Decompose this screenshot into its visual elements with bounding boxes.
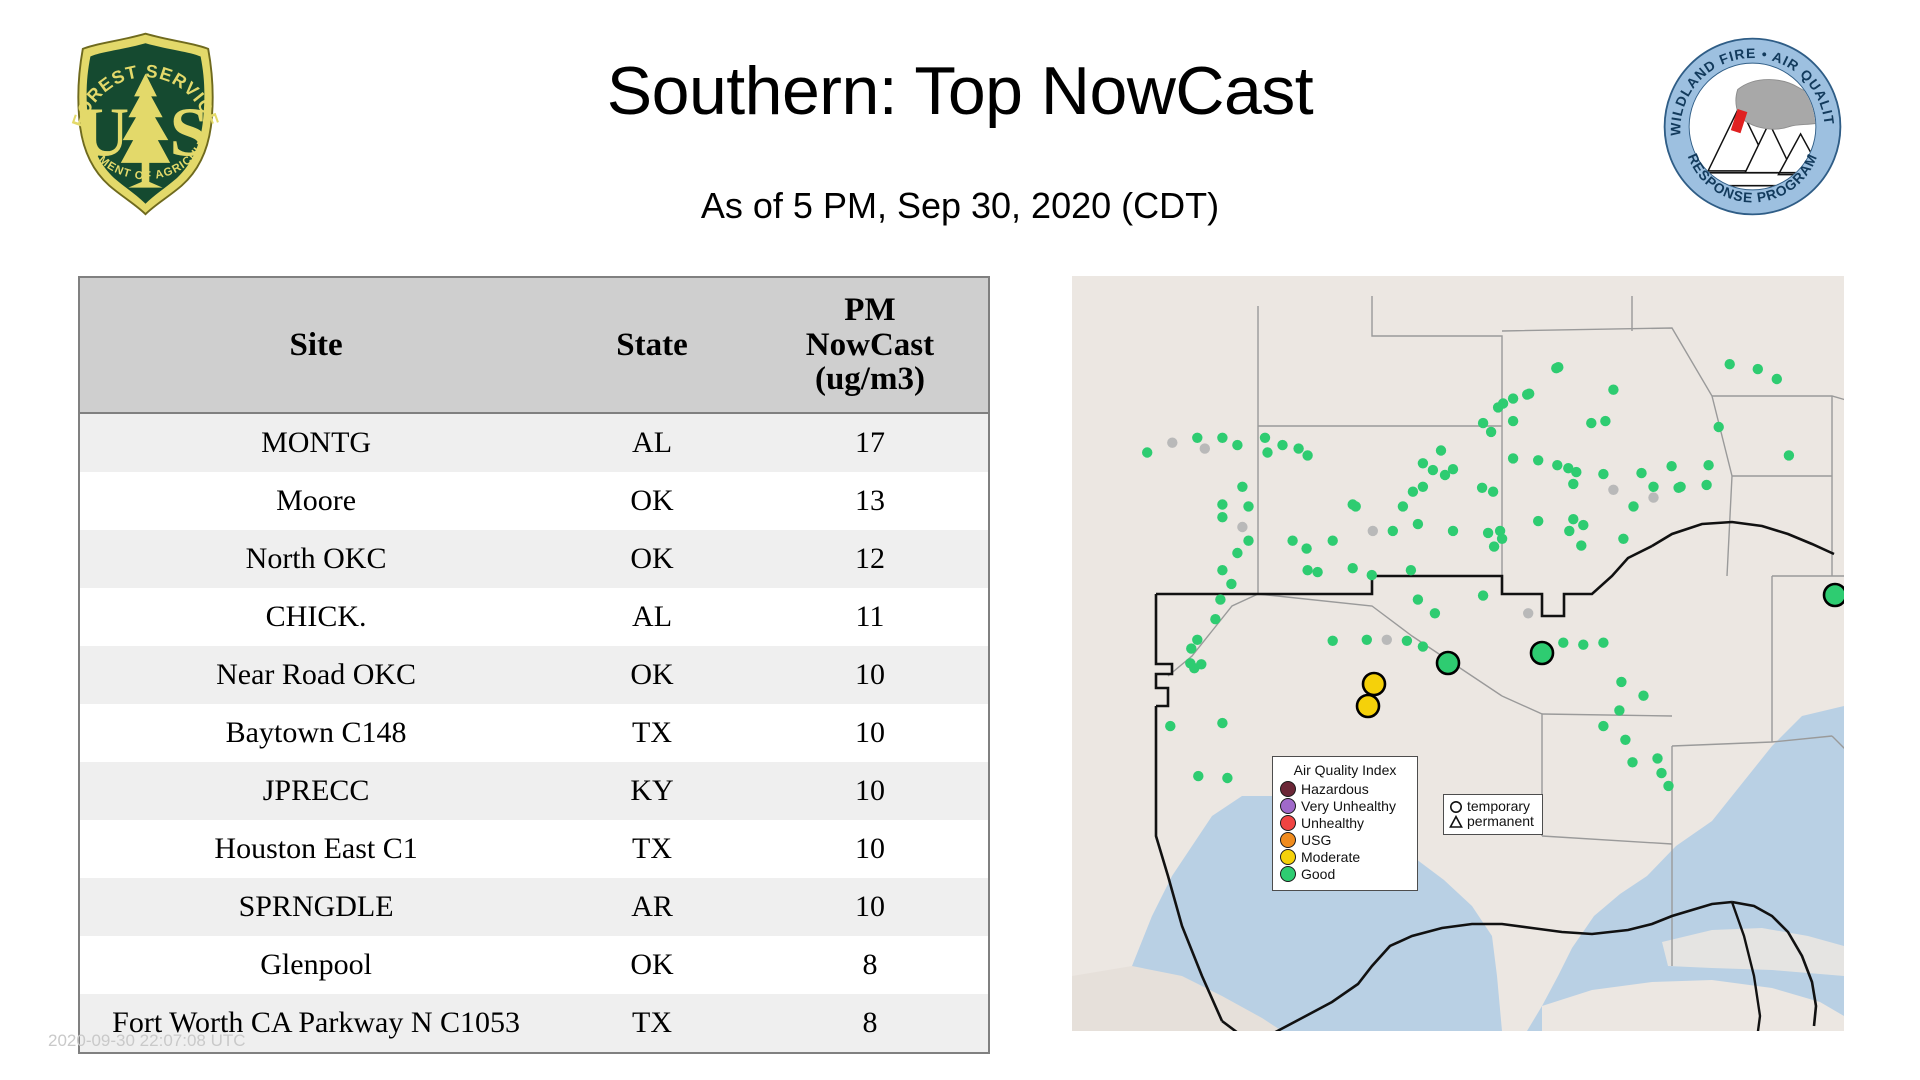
map-monitor-dot[interactable] bbox=[1226, 579, 1236, 589]
map-monitor-dot[interactable] bbox=[1277, 440, 1287, 450]
map-monitor-dot[interactable] bbox=[1648, 492, 1658, 502]
map-monitor-dot[interactable] bbox=[1348, 563, 1358, 573]
map-monitor-dot[interactable] bbox=[1524, 389, 1534, 399]
table-row: SPRNGDLEAR10 bbox=[80, 878, 988, 936]
aqi-legend-item: Good bbox=[1280, 866, 1410, 882]
map-highlighted-monitor[interactable] bbox=[1357, 695, 1379, 717]
column-header-state: State bbox=[552, 278, 752, 413]
aqi-legend-item: Moderate bbox=[1280, 849, 1410, 865]
map-monitor-dot[interactable] bbox=[1232, 548, 1242, 558]
cell-site: SPRNGDLE bbox=[80, 878, 552, 936]
cell-state: TX bbox=[552, 820, 752, 878]
sensor-legend-label-permanent: permanent bbox=[1467, 814, 1534, 829]
cell-pm-nowcast: 11 bbox=[752, 588, 988, 646]
cell-state: OK bbox=[552, 472, 752, 530]
map-monitor-dot[interactable] bbox=[1413, 594, 1423, 604]
map-monitor-dot[interactable] bbox=[1448, 526, 1458, 536]
map-monitor-dot[interactable] bbox=[1210, 614, 1220, 624]
map-monitor-dot[interactable] bbox=[1413, 519, 1423, 529]
map-monitor-dot[interactable] bbox=[1312, 567, 1322, 577]
map-monitor-dot[interactable] bbox=[1351, 501, 1361, 511]
map-monitor-dot[interactable] bbox=[1652, 753, 1662, 763]
aqi-legend-label: USG bbox=[1301, 833, 1331, 848]
map-monitor-dot[interactable] bbox=[1200, 443, 1210, 453]
map-monitor-dot[interactable] bbox=[1486, 427, 1496, 437]
map-monitor-dot[interactable] bbox=[1237, 522, 1247, 532]
map-monitor-dot[interactable] bbox=[1293, 443, 1303, 453]
sensor-legend-label-temporary: temporary bbox=[1467, 799, 1530, 814]
cell-pm-nowcast: 10 bbox=[752, 762, 988, 820]
map-monitor-dot[interactable] bbox=[1367, 570, 1377, 580]
cell-state: AR bbox=[552, 878, 752, 936]
cell-state: TX bbox=[552, 704, 752, 762]
map-monitor-dot[interactable] bbox=[1483, 528, 1493, 538]
map-monitor-dot[interactable] bbox=[1578, 520, 1588, 530]
aqi-legend-label: Hazardous bbox=[1301, 782, 1369, 797]
map-monitor-dot[interactable] bbox=[1618, 534, 1628, 544]
sensor-legend-row-permanent: permanent bbox=[1449, 814, 1534, 829]
map-monitor-dot[interactable] bbox=[1608, 385, 1618, 395]
table-row: CHICK.AL11 bbox=[80, 588, 988, 646]
map-monitor-dot[interactable] bbox=[1638, 691, 1648, 701]
nowcast-table-container: Site State PM NowCast (ug/m3) MONTGAL17M… bbox=[78, 276, 990, 1054]
cell-site: North OKC bbox=[80, 530, 552, 588]
map-monitor-dot[interactable] bbox=[1388, 526, 1398, 536]
map-monitor-dot[interactable] bbox=[1478, 418, 1488, 428]
map-monitor-dot[interactable] bbox=[1533, 455, 1543, 465]
map-monitor-dot[interactable] bbox=[1598, 469, 1608, 479]
table-body: MONTGAL17MooreOK13North OKCOK12CHICK.AL1… bbox=[80, 413, 988, 1052]
map-monitor-dot[interactable] bbox=[1576, 540, 1586, 550]
cell-state: OK bbox=[552, 530, 752, 588]
cell-pm-nowcast: 10 bbox=[752, 704, 988, 762]
map-monitor-dot[interactable] bbox=[1508, 416, 1518, 426]
map-monitor-dot[interactable] bbox=[1478, 590, 1488, 600]
table-row: MONTGAL17 bbox=[80, 413, 988, 472]
aqi-legend-item: USG bbox=[1280, 832, 1410, 848]
table-row: Near Road OKCOK10 bbox=[80, 646, 988, 704]
map-monitor-dot[interactable] bbox=[1488, 487, 1498, 497]
map-monitor-dot[interactable] bbox=[1418, 482, 1428, 492]
map-monitor-dot[interactable] bbox=[1772, 374, 1782, 384]
column-header-site: Site bbox=[80, 278, 552, 413]
table-header: Site State PM NowCast (ug/m3) bbox=[80, 278, 988, 413]
aqi-legend-swatch bbox=[1280, 798, 1296, 814]
map-monitor-dot[interactable] bbox=[1636, 468, 1646, 478]
map-monitor-dot[interactable] bbox=[1192, 433, 1202, 443]
map-monitor-dot[interactable] bbox=[1217, 512, 1227, 522]
aqi-legend: Air Quality Index HazardousVery Unhealth… bbox=[1272, 756, 1418, 891]
map-monitor-dot[interactable] bbox=[1489, 541, 1499, 551]
map-monitor-dot[interactable] bbox=[1192, 635, 1202, 645]
nowcast-table: Site State PM NowCast (ug/m3) MONTGAL17M… bbox=[80, 278, 988, 1052]
map-monitor-dot[interactable] bbox=[1627, 757, 1637, 767]
page-subtitle: As of 5 PM, Sep 30, 2020 (CDT) bbox=[0, 185, 1920, 227]
map-monitor-dot[interactable] bbox=[1648, 482, 1658, 492]
cell-site: Houston East C1 bbox=[80, 820, 552, 878]
map-monitor-dot[interactable] bbox=[1217, 718, 1227, 728]
map-monitor-dot[interactable] bbox=[1598, 638, 1608, 648]
map-monitor-dot[interactable] bbox=[1568, 479, 1578, 489]
cell-state: OK bbox=[552, 646, 752, 704]
temporary-monitor-icon bbox=[1449, 800, 1463, 814]
map-monitor-dot[interactable] bbox=[1287, 536, 1297, 546]
map-monitor-dot[interactable] bbox=[1551, 363, 1561, 373]
aqi-legend-rows: HazardousVery UnhealthyUnhealthyUSGModer… bbox=[1280, 781, 1410, 882]
cell-site: Baytown C148 bbox=[80, 704, 552, 762]
aqi-legend-swatch bbox=[1280, 832, 1296, 848]
map-monitor-dot[interactable] bbox=[1656, 768, 1666, 778]
aqi-legend-swatch bbox=[1280, 815, 1296, 831]
map-monitor-dot[interactable] bbox=[1217, 565, 1227, 575]
cell-site: Moore bbox=[80, 472, 552, 530]
map-highlighted-monitor[interactable] bbox=[1531, 642, 1553, 664]
map-monitor-dot[interactable] bbox=[1167, 438, 1177, 448]
map-monitor-dot[interactable] bbox=[1493, 402, 1503, 412]
cell-state: AL bbox=[552, 588, 752, 646]
map-monitor-dot[interactable] bbox=[1523, 608, 1533, 618]
cell-pm-nowcast: 12 bbox=[752, 530, 988, 588]
map-monitor-dot[interactable] bbox=[1165, 721, 1175, 731]
table-row: MooreOK13 bbox=[80, 472, 988, 530]
aqi-legend-label: Moderate bbox=[1301, 850, 1360, 865]
map-highlighted-monitor[interactable] bbox=[1824, 584, 1844, 606]
cell-state: AL bbox=[552, 413, 752, 472]
map-monitor-dot[interactable] bbox=[1222, 773, 1232, 783]
map-monitor-dot[interactable] bbox=[1215, 594, 1225, 604]
column-header-line-1: PM bbox=[756, 293, 984, 328]
map-monitor-dot[interactable] bbox=[1430, 608, 1440, 618]
map-monitor-dot[interactable] bbox=[1193, 771, 1203, 781]
map-monitor-dot[interactable] bbox=[1398, 501, 1408, 511]
map-monitor-dot[interactable] bbox=[1260, 433, 1270, 443]
page-title: Southern: Top NowCast bbox=[0, 52, 1920, 130]
map-monitor-dot[interactable] bbox=[1186, 643, 1196, 653]
air-quality-map[interactable] bbox=[1072, 276, 1844, 1031]
table-row: North OKCOK12 bbox=[80, 530, 988, 588]
aqi-legend-label: Unhealthy bbox=[1301, 816, 1364, 831]
map-monitor-dot[interactable] bbox=[1614, 705, 1624, 715]
permanent-monitor-icon bbox=[1449, 815, 1463, 829]
aqi-legend-label: Good bbox=[1301, 867, 1335, 882]
cell-state: KY bbox=[552, 762, 752, 820]
map-monitor-dot[interactable] bbox=[1418, 458, 1428, 468]
map-monitor-dot[interactable] bbox=[1196, 659, 1206, 669]
map-monitor-dot[interactable] bbox=[1533, 516, 1543, 526]
map-monitor-dot[interactable] bbox=[1701, 480, 1711, 490]
map-monitor-dot[interactable] bbox=[1703, 460, 1713, 470]
column-header-line-2: NowCast bbox=[756, 328, 984, 363]
aqi-legend-title: Air Quality Index bbox=[1280, 762, 1410, 778]
map-monitor-dot[interactable] bbox=[1725, 359, 1735, 369]
aqi-legend-label: Very Unhealthy bbox=[1301, 799, 1396, 814]
map-monitor-dot[interactable] bbox=[1436, 445, 1446, 455]
aqi-legend-item: Hazardous bbox=[1280, 781, 1410, 797]
table-row: Houston East C1TX10 bbox=[80, 820, 988, 878]
map-monitor-dot[interactable] bbox=[1328, 636, 1338, 646]
map-monitor-dot[interactable] bbox=[1232, 440, 1242, 450]
map-monitor-dot[interactable] bbox=[1578, 640, 1588, 650]
map-monitor-dot[interactable] bbox=[1237, 482, 1247, 492]
table-row: Baytown C148TX10 bbox=[80, 704, 988, 762]
map-monitor-dot[interactable] bbox=[1368, 526, 1378, 536]
map-monitor-dot[interactable] bbox=[1608, 485, 1618, 495]
map-monitor-dot[interactable] bbox=[1406, 565, 1416, 575]
cell-pm-nowcast: 10 bbox=[752, 878, 988, 936]
map-monitor-dot[interactable] bbox=[1402, 636, 1412, 646]
cell-state: OK bbox=[552, 936, 752, 994]
column-header-line-3: (ug/m3) bbox=[756, 362, 984, 397]
map-svg bbox=[1072, 276, 1844, 1031]
map-highlighted-monitor[interactable] bbox=[1437, 652, 1459, 674]
map-monitor-dot[interactable] bbox=[1382, 635, 1392, 645]
map-monitor-dot[interactable] bbox=[1568, 514, 1578, 524]
map-monitor-dot[interactable] bbox=[1628, 501, 1638, 511]
map-monitor-dot[interactable] bbox=[1418, 641, 1428, 651]
map-monitor-dot[interactable] bbox=[1428, 465, 1438, 475]
map-monitor-dot[interactable] bbox=[1598, 721, 1608, 731]
map-monitor-dot[interactable] bbox=[1508, 393, 1518, 403]
aqi-legend-item: Unhealthy bbox=[1280, 815, 1410, 831]
map-monitor-dot[interactable] bbox=[1328, 536, 1338, 546]
map-monitor-dot[interactable] bbox=[1552, 460, 1562, 470]
map-monitor-dot[interactable] bbox=[1302, 565, 1312, 575]
table-row: GlenpoolOK8 bbox=[80, 936, 988, 994]
cell-pm-nowcast: 13 bbox=[752, 472, 988, 530]
cell-site: Glenpool bbox=[80, 936, 552, 994]
cell-pm-nowcast: 17 bbox=[752, 413, 988, 472]
map-monitor-dot[interactable] bbox=[1217, 433, 1227, 443]
map-monitor-dot[interactable] bbox=[1753, 364, 1763, 374]
map-monitor-dot[interactable] bbox=[1477, 483, 1487, 493]
map-monitor-dot[interactable] bbox=[1408, 487, 1418, 497]
cell-state: TX bbox=[552, 994, 752, 1052]
map-monitor-dot[interactable] bbox=[1586, 418, 1596, 428]
map-monitor-dot[interactable] bbox=[1675, 482, 1685, 492]
footer-timestamp-note: 2020-09-30 22:07:08 UTC bbox=[48, 1031, 246, 1051]
sensor-type-legend: temporary permanent bbox=[1443, 794, 1543, 835]
cell-site: CHICK. bbox=[80, 588, 552, 646]
aqi-legend-swatch bbox=[1280, 849, 1296, 865]
map-monitor-dot[interactable] bbox=[1784, 450, 1794, 460]
map-monitor-dot[interactable] bbox=[1243, 501, 1253, 511]
map-monitor-dot[interactable] bbox=[1262, 447, 1272, 457]
map-monitor-dot[interactable] bbox=[1362, 635, 1372, 645]
map-monitor-dot[interactable] bbox=[1243, 536, 1253, 546]
map-monitor-dot[interactable] bbox=[1663, 781, 1673, 791]
map-monitor-dot[interactable] bbox=[1616, 677, 1626, 687]
map-monitor-dot[interactable] bbox=[1564, 526, 1574, 536]
aqi-legend-item: Very Unhealthy bbox=[1280, 798, 1410, 814]
map-monitor-dot[interactable] bbox=[1571, 467, 1581, 477]
map-monitor-dot[interactable] bbox=[1448, 464, 1458, 474]
cell-pm-nowcast: 10 bbox=[752, 820, 988, 878]
table-row: JPRECCKY10 bbox=[80, 762, 988, 820]
map-monitor-dot[interactable] bbox=[1600, 416, 1610, 426]
sensor-legend-row-temporary: temporary bbox=[1449, 799, 1534, 814]
map-monitor-dot[interactable] bbox=[1301, 543, 1311, 553]
map-monitor-dot[interactable] bbox=[1620, 735, 1630, 745]
cell-pm-nowcast: 8 bbox=[752, 936, 988, 994]
aqi-legend-swatch bbox=[1280, 866, 1296, 882]
map-monitor-dot[interactable] bbox=[1714, 422, 1724, 432]
aqi-legend-swatch bbox=[1280, 781, 1296, 797]
cell-site: MONTG bbox=[80, 413, 552, 472]
map-monitor-dot[interactable] bbox=[1558, 638, 1568, 648]
column-header-pm-nowcast: PM NowCast (ug/m3) bbox=[752, 278, 988, 413]
map-monitor-dot[interactable] bbox=[1217, 499, 1227, 509]
cell-pm-nowcast: 10 bbox=[752, 646, 988, 704]
map-monitor-dot[interactable] bbox=[1142, 447, 1152, 457]
cell-site: JPRECC bbox=[80, 762, 552, 820]
map-monitor-dot[interactable] bbox=[1302, 450, 1312, 460]
cell-pm-nowcast: 8 bbox=[752, 994, 988, 1052]
cell-site: Near Road OKC bbox=[80, 646, 552, 704]
map-highlighted-monitor[interactable] bbox=[1363, 673, 1385, 695]
map-monitor-dot[interactable] bbox=[1497, 534, 1507, 544]
map-monitor-dot[interactable] bbox=[1666, 461, 1676, 471]
map-monitor-dot[interactable] bbox=[1508, 453, 1518, 463]
